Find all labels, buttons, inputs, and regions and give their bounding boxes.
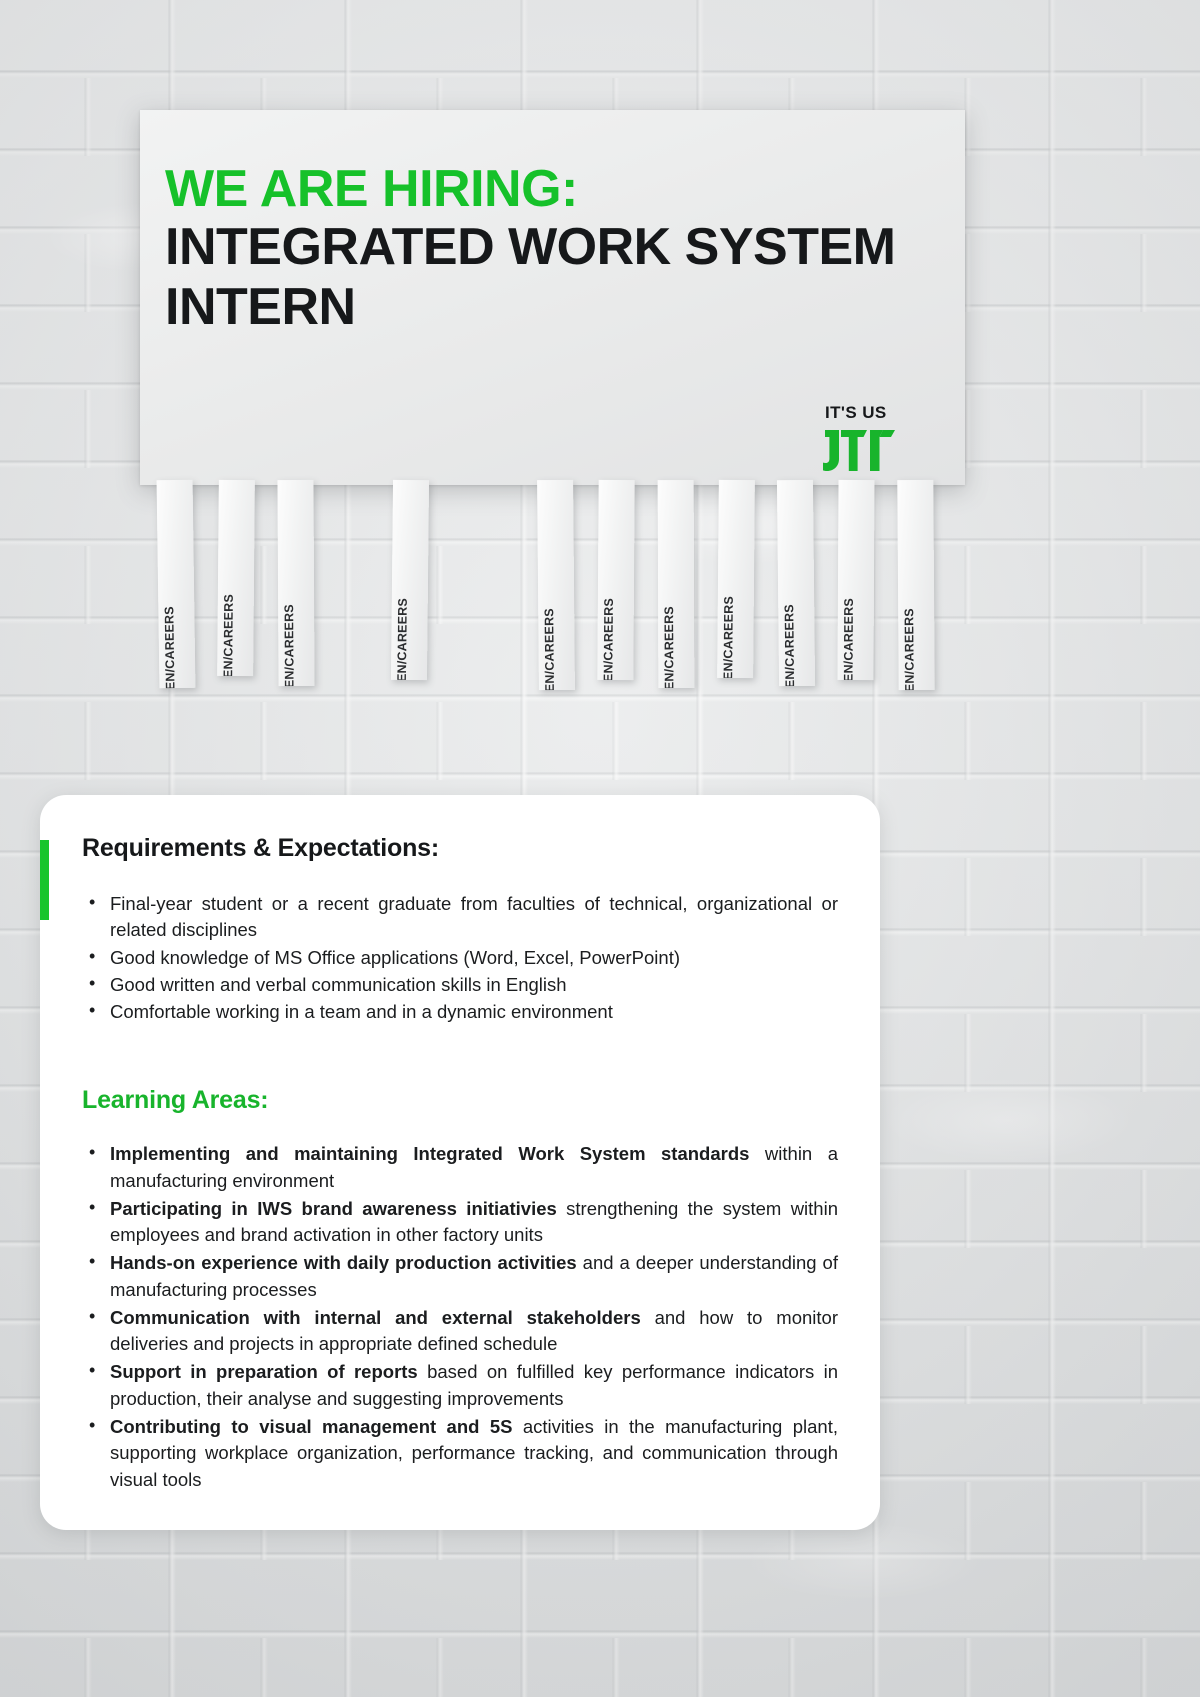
tear-off-tab-inner: JTI.COM/EN/CAREERS [658,480,695,688]
jti-logo: IT'S US [823,404,919,473]
details-card-body: Requirements & Expectations: Final-year … [40,795,880,1493]
list-item-lead: Communication with internal and external… [110,1307,641,1328]
headline-job-title-line1: INTEGRATED WORK SYSTEM [165,217,965,277]
tear-off-tab[interactable]: JTI.COM/EN/CAREERS [157,480,196,688]
tear-off-tab-label: JTI.COM/EN/CAREERS [162,606,178,688]
headline-job-title-line2: INTERN [165,277,965,337]
list-item: Participating in IWS brand awareness ini… [82,1196,838,1249]
tear-off-tab-inner: JTI.COM/EN/CAREERS [391,480,429,680]
tear-off-tab-label: JTI.COM/EN/CAREERS [542,608,557,690]
tear-off-tab[interactable]: JTI.COM/EN/CAREERS [277,480,314,686]
list-item-text: Comfortable working in a team and in a d… [110,1001,613,1022]
tear-off-tab-inner: JTI.COM/EN/CAREERS [597,480,634,680]
tear-off-tab-label: JTI.COM/EN/CAREERS [601,598,616,680]
tear-off-tab-label: JTI.COM/EN/CAREERS [662,606,676,688]
list-item: Support in preparation of reports based … [82,1359,838,1412]
list-item-lead: Participating in IWS brand awareness ini… [110,1198,557,1219]
list-item: Communication with internal and external… [82,1305,838,1358]
tear-off-tab[interactable]: JTI.COM/EN/CAREERS [537,480,575,690]
list-item: Good written and verbal communication sk… [82,972,838,998]
tear-off-tab[interactable]: JTI.COM/EN/CAREERS [897,480,934,690]
tear-off-tab-label: JTI.COM/EN/CAREERS [841,598,856,680]
list-item-lead: Support in preparation of reports [110,1361,418,1382]
green-accent-bar [40,840,49,920]
list-item-lead: Implementing and maintaining Integrated … [110,1143,749,1164]
tear-off-tab-inner: JTI.COM/EN/CAREERS [537,480,575,690]
tear-off-tab[interactable]: JTI.COM/EN/CAREERS [717,480,755,678]
tear-off-tab-label: JTI.COM/EN/CAREERS [782,604,797,686]
tear-off-tab-label: JTI.COM/EN/CAREERS [282,604,297,686]
list-item: Contributing to visual management and 5S… [82,1414,838,1493]
headline-we-are-hiring: WE ARE HIRING: [165,162,965,217]
tear-off-tab-inner: JTI.COM/EN/CAREERS [157,480,196,688]
requirements-list: Final-year student or a recent graduate … [82,891,838,1025]
poster-headline-block: WE ARE HIRING: INTEGRATED WORK SYSTEM IN… [140,110,965,338]
tear-off-tab-inner: JTI.COM/EN/CAREERS [217,480,255,676]
list-item-text: Good knowledge of MS Office applications… [110,947,680,968]
tear-off-tab[interactable]: JTI.COM/EN/CAREERS [658,480,695,688]
jti-logo-icon [823,425,899,473]
list-item-text: Good written and verbal communication sk… [110,974,567,995]
tear-off-tab-inner: JTI.COM/EN/CAREERS [777,480,815,686]
list-item-lead: Contributing to visual management and 5S [110,1416,512,1437]
learning-areas-list: Implementing and maintaining Integrated … [82,1141,838,1492]
tear-off-tab-label: JTI.COM/EN/CAREERS [902,608,917,690]
tear-off-tab-label: JTI.COM/EN/CAREERS [221,594,236,676]
tear-off-tab-strip: JTI.COM/EN/CAREERSJTI.COM/EN/CAREERSJTI.… [140,480,965,705]
list-item: Hands-on experience with daily productio… [82,1250,838,1303]
logo-tagline: IT'S US [825,404,919,421]
tear-off-tab[interactable]: JTI.COM/EN/CAREERS [837,480,874,680]
list-item-text: Final-year student or a recent graduate … [110,893,838,940]
tear-off-tab[interactable]: JTI.COM/EN/CAREERS [391,480,429,680]
tear-off-tab-label: JTI.COM/EN/CAREERS [394,598,409,680]
list-item: Implementing and maintaining Integrated … [82,1141,838,1194]
list-item-lead: Hands-on experience with daily productio… [110,1252,577,1273]
tear-off-tab-label: JTI.COM/EN/CAREERS [721,596,736,678]
hiring-poster: WE ARE HIRING: INTEGRATED WORK SYSTEM IN… [140,110,965,485]
list-item: Comfortable working in a team and in a d… [82,999,838,1025]
requirements-heading: Requirements & Expectations: [82,833,838,863]
tear-off-tab-inner: JTI.COM/EN/CAREERS [277,480,314,686]
tear-off-tab[interactable]: JTI.COM/EN/CAREERS [597,480,634,680]
tear-off-tab-inner: JTI.COM/EN/CAREERS [837,480,874,680]
learning-areas-heading: Learning Areas: [82,1085,838,1115]
list-item: Good knowledge of MS Office applications… [82,945,838,971]
list-item: Final-year student or a recent graduate … [82,891,838,944]
tear-off-tab-inner: JTI.COM/EN/CAREERS [717,480,755,678]
learning-areas-section: Learning Areas: Implementing and maintai… [82,1085,838,1492]
tear-off-tab[interactable]: JTI.COM/EN/CAREERS [217,480,255,676]
tear-off-tab-inner: JTI.COM/EN/CAREERS [897,480,934,690]
tear-off-tab[interactable]: JTI.COM/EN/CAREERS [777,480,815,686]
details-card: Requirements & Expectations: Final-year … [40,795,880,1530]
